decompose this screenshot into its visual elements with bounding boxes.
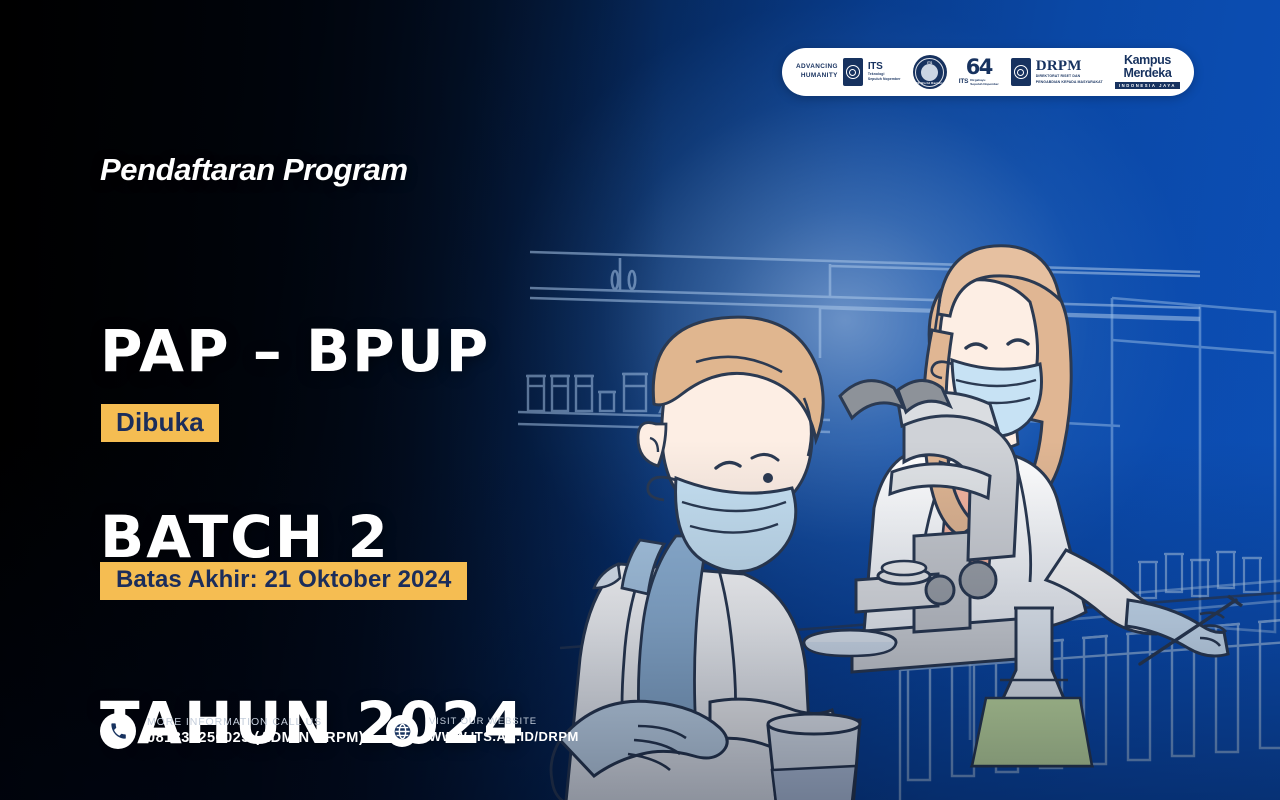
anniversary-brand: ITS — [959, 78, 969, 85]
logo-anniversary-64: 64 ITS Dirgahayu Sepuluh Nopember — [959, 52, 999, 92]
program-eyebrow: Pendaftaran Program — [100, 152, 408, 188]
kampus-merdeka-line-1: Kampus — [1124, 55, 1171, 67]
phone-number: 081333250025 (ADMIN DRPM) — [147, 729, 364, 747]
drpm-acronym: DRPM — [1036, 59, 1103, 74]
its-acronym: ITS — [868, 62, 901, 72]
contact-phone-block: MORE INFORMATION CALL US 081333250025 (A… — [100, 713, 364, 749]
anniversary-sub-2: Sepuluh Nopember — [970, 82, 998, 86]
kampus-merdeka-line-2: Merdeka — [1123, 68, 1171, 80]
phone-label: MORE INFORMATION CALL US — [147, 715, 364, 729]
page-title: PAP – BPUP BATCH 2 TAHUN 2024 — [100, 196, 526, 800]
headline-line-1: PAP – BPUP — [100, 320, 526, 382]
globe-icon — [386, 715, 418, 747]
logo-advancing-humanity-its: ADVANCING HUMANITY ITS Teknologi Sepuluh… — [796, 52, 901, 92]
its-sub-2: Sepuluh Nopember — [868, 77, 901, 82]
drpm-crest-icon — [1011, 58, 1031, 86]
anniversary-number: 64 — [966, 58, 992, 77]
logo-qs-ranking-seal: ITS QS World Ranking — [913, 52, 947, 92]
drpm-sub-2: PENGABDIAN KEPADA MASYARAKAT — [1036, 80, 1103, 85]
qs-seal-icon: ITS QS World Ranking — [913, 55, 947, 89]
logo-drpm: DRPM DIREKTORAT RISET DAN PENGABDIAN KEP… — [1011, 52, 1103, 92]
kampus-merdeka-tagline: INDONESIA JAYA — [1115, 82, 1180, 89]
status-badge: Dibuka — [101, 404, 219, 442]
advancing-line-2: HUMANITY — [796, 72, 838, 81]
seal-bottom-text: QS World Ranking — [913, 81, 947, 85]
partner-logo-bar: ADVANCING HUMANITY ITS Teknologi Sepuluh… — [782, 48, 1194, 96]
phone-icon — [100, 713, 136, 749]
deadline-badge: Batas Akhir: 21 Oktober 2024 — [100, 562, 467, 600]
promo-banner: ADVANCING HUMANITY ITS Teknologi Sepuluh… — [0, 0, 1280, 800]
its-crest-icon — [843, 58, 863, 86]
contact-website-block: VISIT OUR WEBSITE WWW.ITS.AC.ID/DRPM — [386, 715, 579, 747]
headline-line-2: BATCH 2 — [100, 506, 526, 568]
advancing-line-1: ADVANCING — [796, 63, 838, 72]
website-url: WWW.ITS.AC.ID/DRPM — [429, 729, 579, 745]
website-label: VISIT OUR WEBSITE — [429, 716, 579, 729]
logo-kampus-merdeka: Kampus Merdeka INDONESIA JAYA — [1115, 52, 1180, 92]
